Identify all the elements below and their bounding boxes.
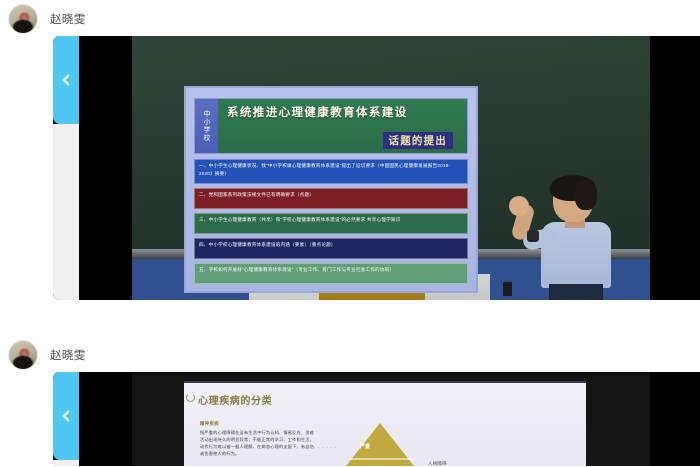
letterbox-right — [650, 372, 700, 466]
slide-side-tab: 中小学校 — [195, 99, 218, 153]
list-item: 三、中小学生心理健康教育（共享）和“学校心理健康教育体系建设”的必然要求 共享心… — [194, 213, 468, 234]
presenter-watch — [527, 230, 539, 242]
post-card: 赵晓雯 中小学校 系统推进心理健康教育体系建设 — [0, 0, 700, 300]
presenter-figure — [531, 178, 619, 300]
projected-slide: 心理疾病的分类 精神疾病 指严重的心理障碍在没有生活中行为认知、情感反应、思维活… — [184, 381, 586, 466]
avatar[interactable] — [8, 340, 38, 370]
slide-title: 心理疾病的分类 — [198, 392, 272, 407]
list-item: 一、中小学生心理健康状况、找“中小学校做心理健康教育体系建设”提出了迫切要求（中… — [194, 159, 468, 184]
list-item: 四、中小学校心理健康教育体系建设的内涵（要素）（重点论题） — [194, 238, 468, 259]
side-panel-strip — [53, 460, 79, 466]
video-player[interactable]: 中小学校 系统推进心理健康教育体系建设 话题的提出 一、中小学生心理健康状况、找… — [53, 36, 700, 300]
presenter-hair-back — [575, 180, 597, 210]
video-scene: 中小学校 系统推进心理健康教育体系建设 话题的提出 一、中小学生心理健康状况、找… — [53, 36, 700, 300]
video-scene: 心理疾病的分类 精神疾病 指严重的心理障碍在没有生活中行为认知、情感反应、思维活… — [53, 372, 700, 466]
pyramid-divider — [350, 458, 412, 460]
slide-title: 系统推进心理健康教育体系建设 — [227, 104, 408, 120]
collapse-panel-button[interactable] — [53, 372, 79, 460]
list-item: 五、学校如何开展好“心理健康教育体系建设”（专业工作、有门工作与专业社会工作的协… — [194, 263, 468, 284]
presenter-hand — [509, 196, 529, 216]
refresh-icon — [186, 393, 195, 402]
slide-title-row: 中小学校 系统推进心理健康教育体系建设 话题的提出 — [194, 98, 468, 154]
collapse-panel-button[interactable] — [53, 36, 79, 124]
post-header: 赵晓雯 — [0, 336, 700, 372]
slide-title-area: 系统推进心理健康教育体系建设 话题的提出 — [218, 99, 467, 153]
author-name[interactable]: 赵晓雯 — [50, 347, 86, 363]
chevron-left-icon — [62, 74, 73, 85]
slide-bullet-list: 一、中小学生心理健康状况、找“中小学校做心理健康教育体系建设”提出了迫切要求（中… — [194, 159, 468, 284]
chevron-left-icon — [62, 410, 73, 421]
avatar[interactable] — [8, 4, 38, 34]
slide-right-label: 人格障碍 — [428, 461, 447, 466]
video-player[interactable]: 心理疾病的分类 精神疾病 指严重的心理障碍在没有生活中行为认知、情感反应、思维活… — [53, 372, 700, 466]
pyramid-label: 严重 — [360, 443, 370, 450]
cup — [503, 282, 512, 296]
author-name[interactable]: 赵晓雯 — [50, 11, 86, 27]
projected-slide: 中小学校 系统推进心理健康教育体系建设 话题的提出 一、中小学生心理健康状况、找… — [186, 88, 476, 291]
slide-subtitle: 话题的提出 — [383, 132, 454, 149]
list-item: 二、党和国家系列政策法规文件已有明确要求（点题） — [194, 188, 468, 209]
projection-frame: 心理疾病的分类 精神疾病 指严重的心理障碍在没有生活中行为认知、情感反应、思维活… — [132, 375, 650, 466]
side-panel-strip — [53, 124, 79, 300]
letterbox-right — [650, 36, 700, 300]
video-feed: 赵晓雯 中小学校 系统推进心理健康教育体系建设 — [0, 0, 700, 467]
post-card: 赵晓雯 心理疾病的分类 精神疾病 指严重的心理障碍在没有生活中行为认知、情感反应… — [0, 336, 700, 466]
leader-dots: · · · · · · — [314, 445, 336, 451]
presenter-trousers — [549, 284, 603, 300]
slide-section-label: 精神疾病 — [200, 421, 219, 427]
slide-paragraph: 指严重的心理障碍在没有生活中行为认知、情感反应、思维活动出现持久的明显异常，不能… — [200, 429, 318, 457]
feed-gap — [0, 300, 700, 336]
post-header: 赵晓雯 — [0, 0, 700, 36]
